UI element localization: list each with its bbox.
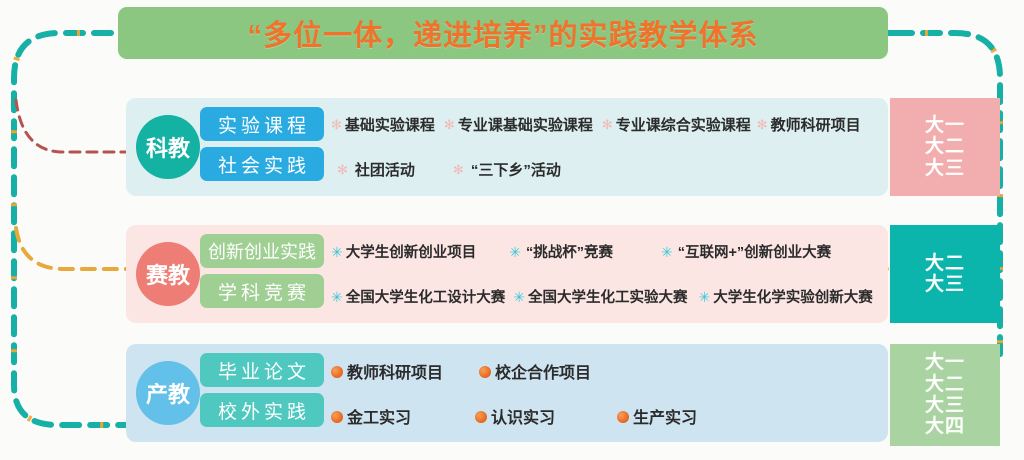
group-label-biyelunwen[interactable]: 毕业论文 (200, 353, 324, 387)
row-badge-chanjiao: 产教 (136, 361, 200, 425)
flower-bullet-icon: ✻ (602, 118, 613, 131)
asterisk-bullet-icon: ✳ (331, 245, 343, 259)
diagram-canvas: “多位一体，递进培养”的实践教学体系 科教 实验课程 社会实践 ✻ 基础实验课程… (0, 0, 1024, 460)
asterisk-bullet-icon: ✳ (513, 290, 525, 304)
year-label: 大三 (925, 274, 965, 295)
list-item-label: 大学生化学实验创新大赛 (713, 286, 873, 307)
item-line: 金工实习 认识实习 生产实习 (331, 393, 880, 438)
year-label: 大三 (925, 158, 965, 179)
asterisk-bullet-icon: ✳ (509, 245, 521, 259)
list-item-label: 基础实验课程 (345, 114, 435, 135)
list-item-label: 全国大学生化工实验大赛 (528, 286, 688, 307)
list-item[interactable]: ✻ 教师科研项目 (757, 114, 861, 135)
group-label-shehuishijian[interactable]: 社会实践 (200, 147, 324, 181)
diagram-title-bar: “多位一体，递进培养”的实践教学体系 (118, 7, 888, 59)
item-line: ✳ 大学生创新创业项目 ✳ “挑战杯”竞赛 ✳ “互联网+”创新创业大赛 (331, 229, 880, 274)
row-chanjiao: 产教 毕业论文 校外实践 教师科研项目 校企合作项目 金工实习 (126, 344, 888, 442)
year-label: 大二 (925, 136, 965, 157)
year-label: 大一 (925, 352, 965, 373)
year-block-chanjiao: 大一 大二 大三 大四 (890, 344, 1000, 446)
flower-bullet-icon: ✻ (453, 163, 464, 176)
row-items-chanjiao: 教师科研项目 校企合作项目 金工实习 认识实习 生产实习 (331, 348, 880, 438)
list-item-label: 校企合作项目 (495, 359, 591, 383)
year-label: 大一 (925, 115, 965, 136)
row-items-kejiao: ✻ 基础实验课程 ✻ 专业课基础实验课程 ✻ 专业课综合实验课程 ✻ 教师科研项… (331, 102, 880, 192)
list-item-label: 教师科研项目 (347, 359, 443, 383)
list-item[interactable]: ✳ “挑战杯”竞赛 (509, 241, 613, 262)
list-item[interactable]: ✻ 社团活动 (337, 159, 415, 180)
list-item[interactable]: ✳ “互联网+”创新创业大赛 (661, 241, 831, 262)
row-labels-chanjiao: 毕业论文 校外实践 (200, 353, 324, 433)
group-label-chuangxinchuangye[interactable]: 创新创业实践 (200, 234, 324, 268)
group-label-xiaowaishijian[interactable]: 校外实践 (200, 393, 324, 427)
list-item-label: 全国大学生化工设计大赛 (346, 286, 506, 307)
row-badge-kejiao: 科教 (136, 115, 200, 179)
list-item[interactable]: ✻ 基础实验课程 (331, 114, 435, 135)
flower-bullet-icon: ✻ (757, 118, 768, 131)
list-item-label: 社团活动 (355, 159, 415, 180)
list-item-label: 大学生创新创业项目 (346, 241, 477, 262)
item-line: 教师科研项目 校企合作项目 (331, 348, 880, 393)
list-item[interactable]: ✻ 专业课基础实验课程 (444, 114, 593, 135)
page-title: “多位一体，递进培养”的实践教学体系 (247, 12, 758, 54)
list-item-label: 金工实习 (347, 404, 411, 428)
item-line: ✻ 社团活动 ✻ “三下乡”活动 (331, 147, 880, 192)
year-label: 大二 (925, 374, 965, 395)
orange-dot-bullet-icon (331, 411, 343, 423)
list-item-label: “挑战杯”竞赛 (526, 241, 613, 262)
asterisk-bullet-icon: ✳ (698, 290, 710, 304)
item-line: ✳ 全国大学生化工设计大赛 ✳ 全国大学生化工实验大赛 ✳ 大学生化学实验创新大… (331, 274, 880, 319)
year-label: 大二 (925, 253, 965, 274)
year-block-saijiao: 大二 大三 (890, 225, 1000, 323)
asterisk-bullet-icon: ✳ (661, 245, 673, 259)
list-item[interactable]: ✳ 全国大学生化工设计大赛 (331, 286, 505, 307)
orange-dot-bullet-icon (617, 411, 629, 423)
row-saijiao: 赛教 创新创业实践 学科竞赛 ✳ 大学生创新创业项目 ✳ “挑战杯”竞赛 ✳ “… (126, 225, 888, 323)
row-badge-saijiao: 赛教 (136, 242, 200, 306)
group-label-shiyankecheng[interactable]: 实验课程 (200, 107, 324, 141)
list-item-label: “互联网+”创新创业大赛 (678, 241, 831, 262)
list-item-label: 教师科研项目 (771, 114, 861, 135)
group-label-xuekejingsai[interactable]: 学科竞赛 (200, 274, 324, 308)
list-item[interactable]: ✳ 大学生创新创业项目 (331, 241, 476, 262)
year-label: 大四 (925, 416, 965, 437)
list-item[interactable]: 生产实习 (617, 404, 697, 428)
flower-bullet-icon: ✻ (331, 118, 342, 131)
flower-bullet-icon: ✻ (444, 118, 455, 131)
list-item-label: “三下乡”活动 (471, 159, 561, 180)
row-items-saijiao: ✳ 大学生创新创业项目 ✳ “挑战杯”竞赛 ✳ “互联网+”创新创业大赛 ✳ 全… (331, 229, 880, 319)
orange-dot-bullet-icon (479, 366, 491, 378)
orange-dot-bullet-icon (475, 411, 487, 423)
year-block-kejiao: 大一 大二 大三 (890, 98, 1000, 196)
list-item[interactable]: ✻ “三下乡”活动 (453, 159, 561, 180)
list-item-label: 专业课综合实验课程 (616, 114, 751, 135)
list-item[interactable]: ✻ 专业课综合实验课程 (602, 114, 751, 135)
asterisk-bullet-icon: ✳ (331, 290, 343, 304)
list-item-label: 生产实习 (633, 404, 697, 428)
row-labels-kejiao: 实验课程 社会实践 (200, 107, 324, 187)
row-kejiao: 科教 实验课程 社会实践 ✻ 基础实验课程 ✻ 专业课基础实验课程 ✻ 专业课综… (126, 98, 888, 196)
list-item[interactable]: ✳ 大学生化学实验创新大赛 (698, 286, 872, 307)
list-item[interactable]: ✳ 全国大学生化工实验大赛 (513, 286, 687, 307)
orange-dot-bullet-icon (331, 366, 343, 378)
list-item[interactable]: 教师科研项目 (331, 359, 443, 383)
list-item[interactable]: 金工实习 (331, 404, 411, 428)
list-item-label: 专业课基础实验课程 (458, 114, 593, 135)
row-labels-saijiao: 创新创业实践 学科竞赛 (200, 234, 324, 314)
list-item-label: 认识实习 (491, 404, 555, 428)
list-item[interactable]: 认识实习 (475, 404, 555, 428)
list-item[interactable]: 校企合作项目 (479, 359, 591, 383)
year-label: 大三 (925, 395, 965, 416)
item-line: ✻ 基础实验课程 ✻ 专业课基础实验课程 ✻ 专业课综合实验课程 ✻ 教师科研项… (331, 102, 880, 147)
flower-bullet-icon: ✻ (337, 163, 348, 176)
